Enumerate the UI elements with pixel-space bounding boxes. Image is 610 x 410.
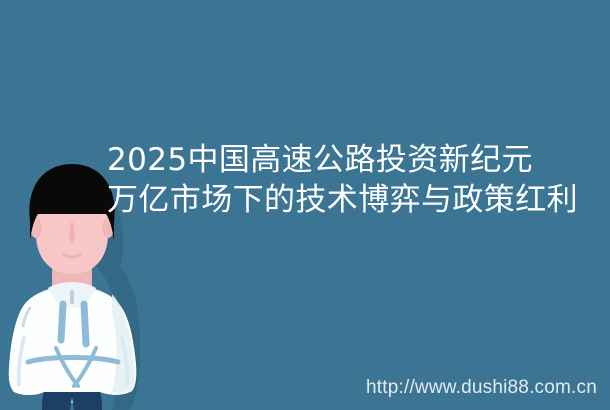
title-line-2: 万亿市场下的技术博弈与政策红利: [107, 180, 602, 220]
drawstring-right: [84, 304, 86, 344]
title-line-1: 2025中国高速公路投资新纪元: [107, 140, 602, 180]
banner-canvas: 2025中国高速公路投资新纪元 万亿市场下的技术博弈与政策红利 http://w…: [0, 0, 610, 410]
drawstring-left: [61, 304, 63, 340]
watermark-url: http://www.dushi88.com.cn: [366, 377, 597, 399]
title-block: 2025中国高速公路投资新纪元 万亿市场下的技术博弈与政策红利: [107, 140, 602, 220]
